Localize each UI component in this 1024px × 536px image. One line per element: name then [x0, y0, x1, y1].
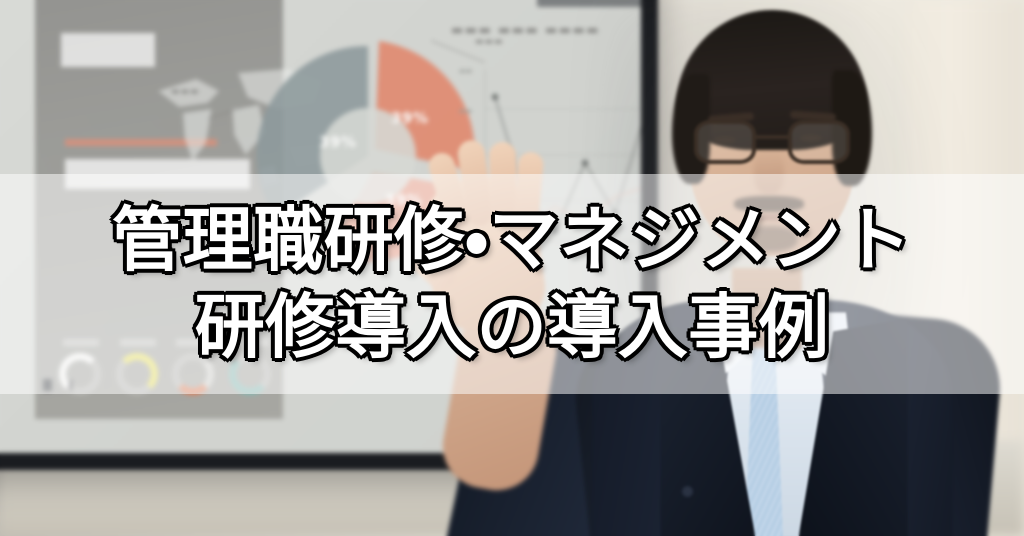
eyeglasses-lens-right: [788, 120, 850, 164]
banner-image: 39% 39% 39% ▬▬▬ ▬▬▬ ▬▬▬ ▬▬▬ ▬▬▬▬: [0, 0, 1024, 536]
headline-line-2: 研修導入の導入事例: [195, 285, 830, 370]
eyeglasses-bridge: [756, 135, 788, 139]
headline-overlay-band: 管理職研修・マネジメント 研修導入の導入事例: [0, 174, 1024, 394]
headline-line-1: 管理職研修・マネジメント: [112, 198, 912, 283]
presenter-jacket-button: [682, 486, 693, 497]
eyeglasses-lens-left: [694, 120, 756, 164]
